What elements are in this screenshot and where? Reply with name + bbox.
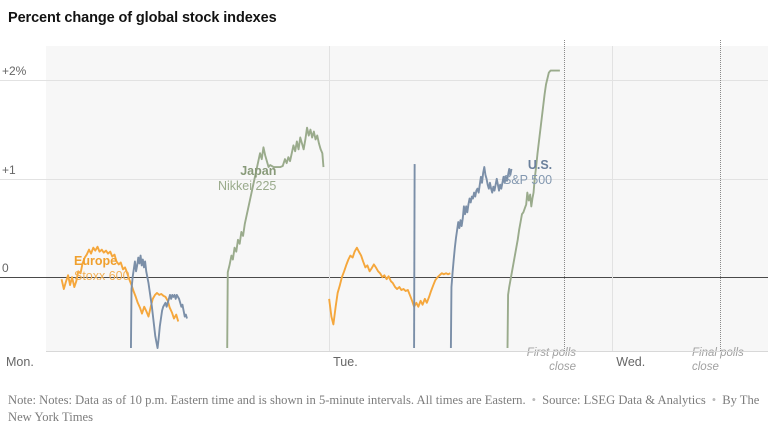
- y-axis-tick-label: 0: [2, 261, 9, 275]
- footer-separator-2: •: [706, 393, 722, 407]
- footer-separator-1: •: [526, 393, 542, 407]
- series-label-europe-subtitle: Stoxx 600: [74, 269, 130, 284]
- series-line-japan: [508, 71, 560, 348]
- series-label-us: U.S. S&P 500: [503, 158, 552, 188]
- page-title: Percent change of global stock indexes: [8, 10, 277, 26]
- x-axis-tick-label: Tue.: [333, 355, 358, 369]
- series-label-japan-subtitle: Nikkei 225: [218, 179, 276, 194]
- series-label-europe-title: Europe: [74, 254, 130, 269]
- annotation-final-polls-line1: Final polls: [692, 347, 744, 359]
- x-axis-tick-label: Mon.: [6, 355, 34, 369]
- series-line-japan: [227, 128, 323, 348]
- series-lines: [0, 46, 768, 351]
- annotation-first-polls-line1: First polls: [527, 347, 576, 359]
- plot-area: 0+1+2% Europe Stoxx 600 Japan Nikkei 225…: [0, 46, 768, 351]
- series-line-us: [451, 167, 512, 348]
- footer-source: Source: LSEG Data & Analytics: [542, 393, 706, 407]
- series-line-us: [131, 256, 187, 348]
- x-axis-tick-label: Wed.: [616, 355, 645, 369]
- y-axis-tick-label: +2%: [2, 64, 26, 78]
- series-label-japan-title: Japan: [218, 164, 276, 179]
- series-label-us-title: U.S.: [503, 158, 552, 173]
- footer-note: Note: Notes: Data as of 10 p.m. Eastern …: [8, 392, 760, 426]
- series-label-japan: Japan Nikkei 225: [218, 164, 276, 194]
- x-axis-line: [46, 351, 768, 352]
- series-label-us-subtitle: S&P 500: [503, 173, 552, 188]
- y-axis-tick-label: +1: [2, 163, 16, 177]
- series-line-us: [414, 164, 415, 348]
- annotation-final-polls-line2: close: [692, 361, 719, 373]
- series-label-europe: Europe Stoxx 600: [74, 254, 130, 284]
- annotation-first-polls-line2: close: [549, 361, 576, 373]
- footer-note-text: Note: Notes: Data as of 10 p.m. Eastern …: [8, 393, 526, 407]
- chart-container: Percent change of global stock indexes 0…: [0, 0, 768, 432]
- series-line-europe: [329, 248, 450, 325]
